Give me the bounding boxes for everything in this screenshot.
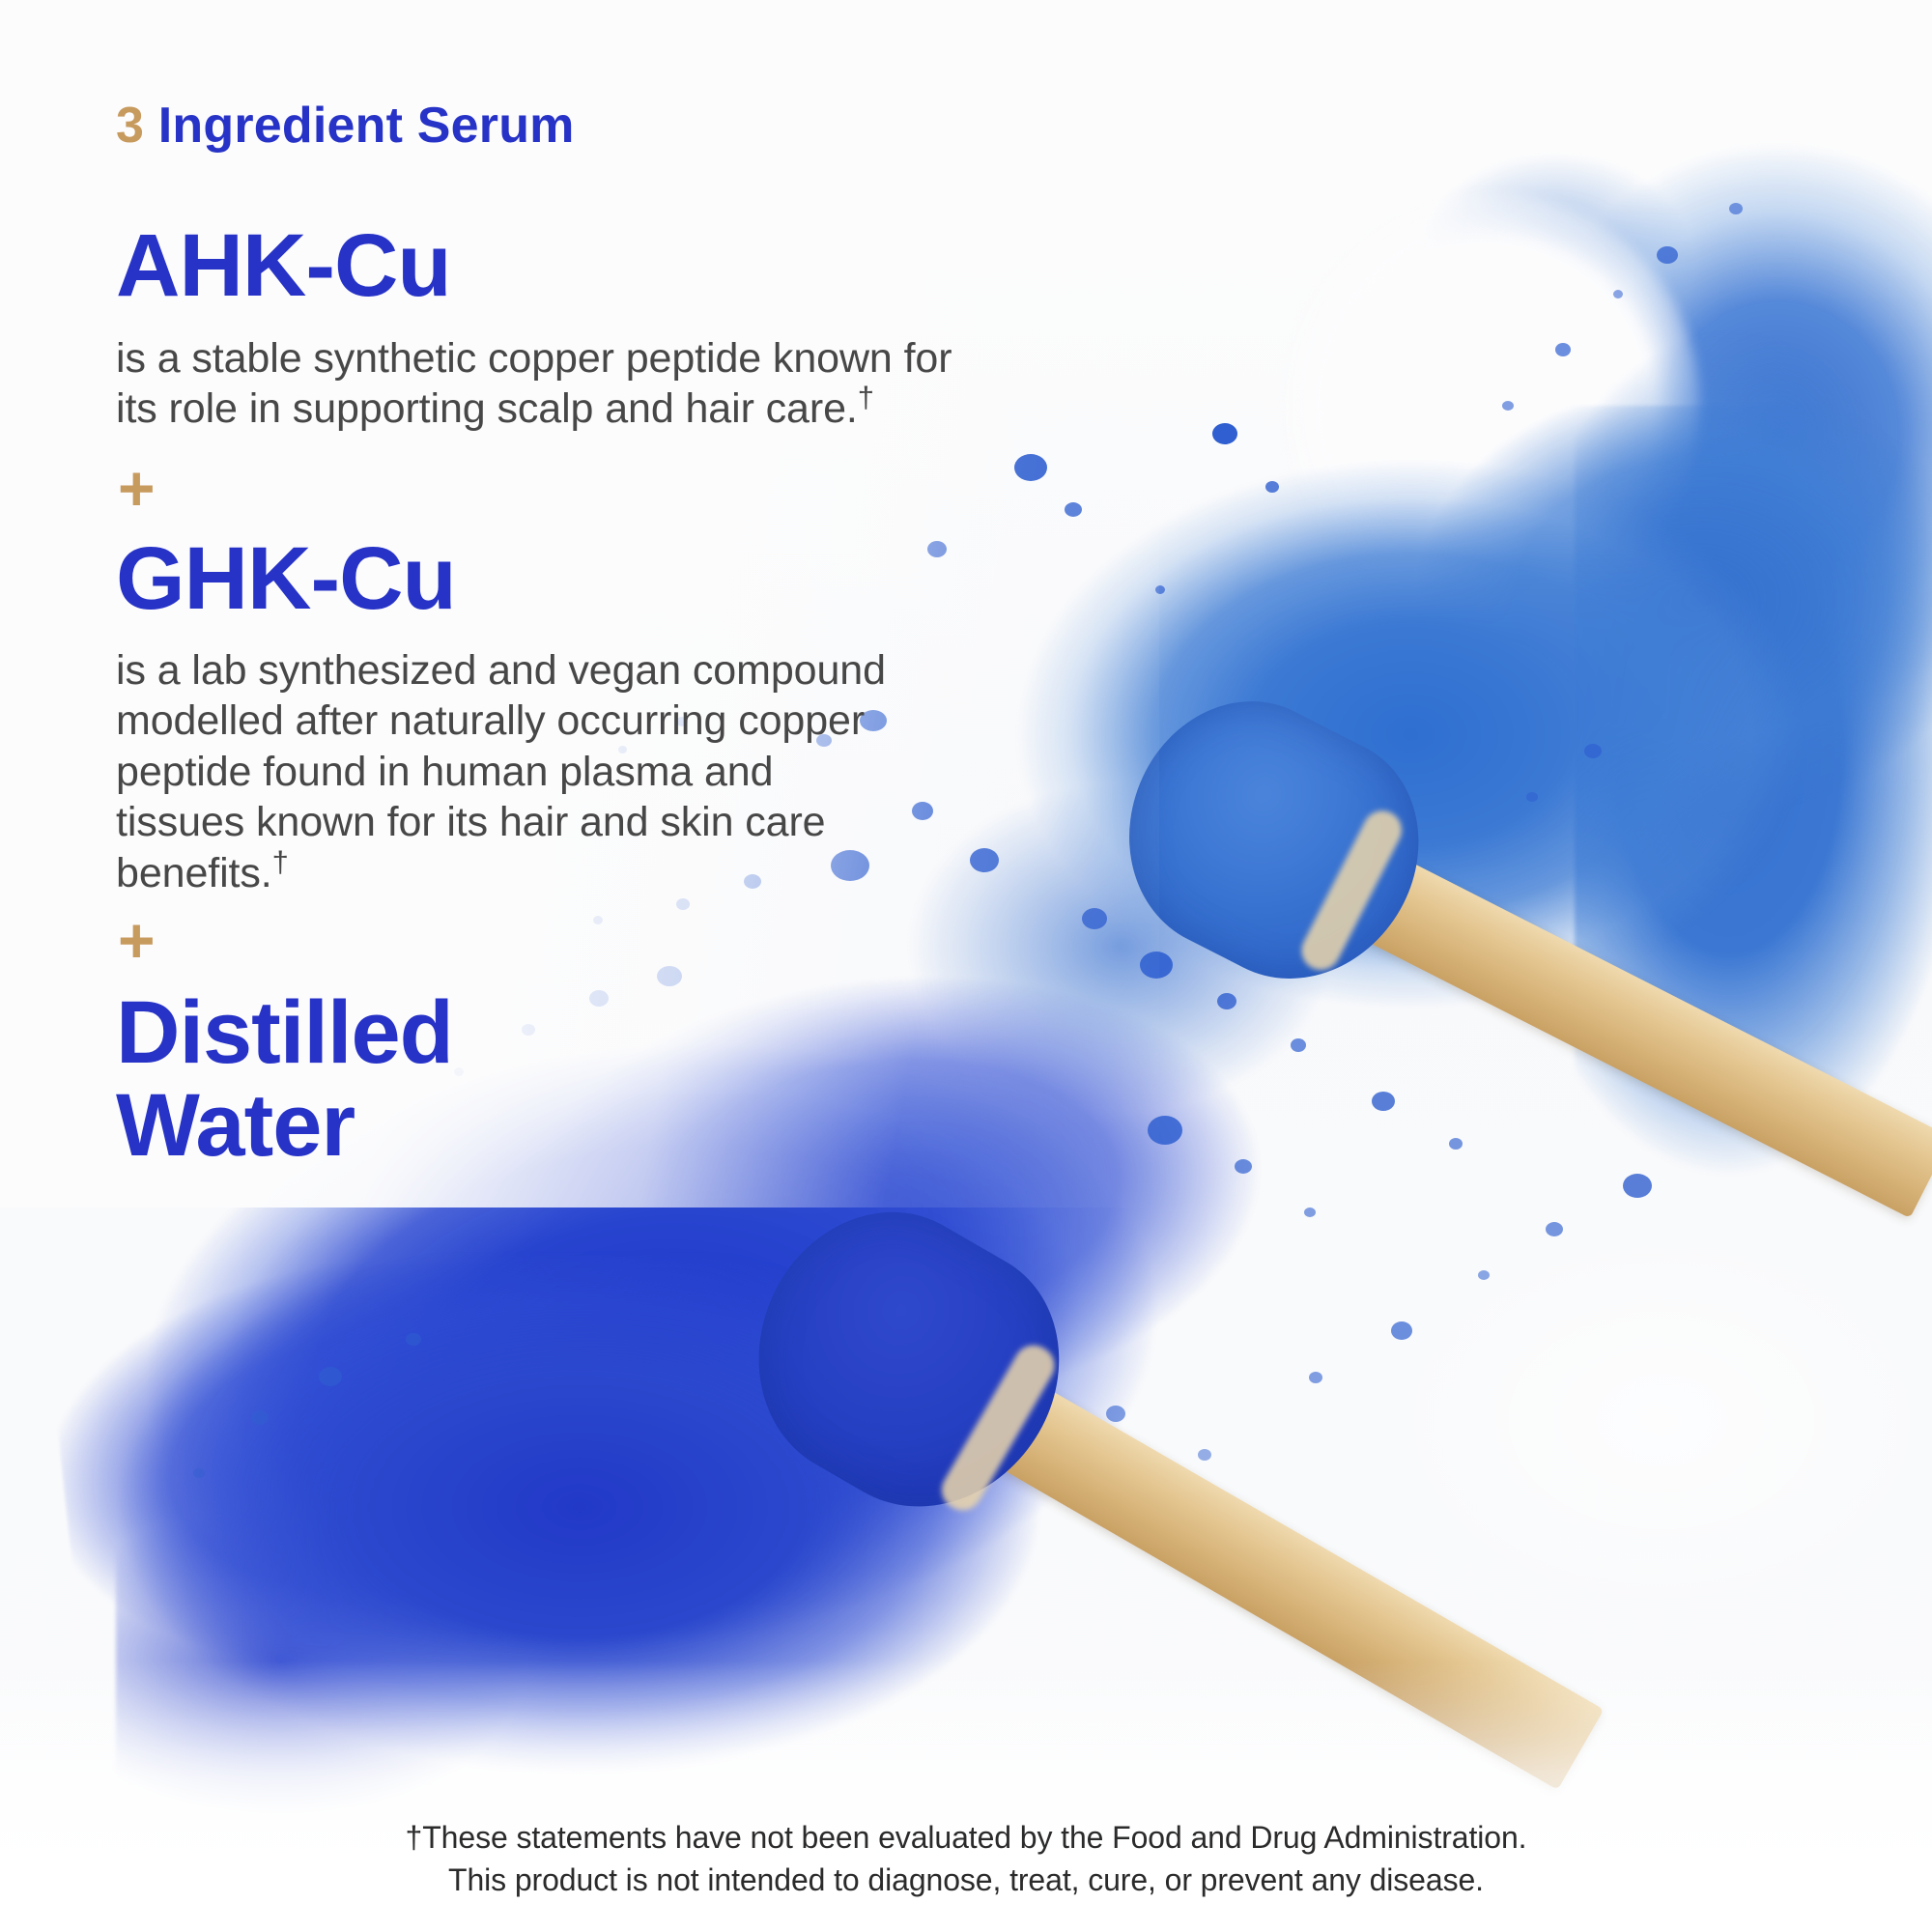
eyebrow-label: Ingredient Serum xyxy=(144,98,574,154)
ingredient-title-ahk-cu: AHK-Cu xyxy=(116,220,451,313)
ingredient-title-distilled-water: Distilled Water xyxy=(116,987,453,1172)
footnote-marker-ahk-cu: † xyxy=(858,381,874,414)
ingredient-title-ghk-cu: GHK-Cu xyxy=(116,533,456,626)
ingredient-description-ghk-cu: is a lab synthesized and vegan compound … xyxy=(116,645,886,898)
eyebrow-heading: 3 Ingredient Serum xyxy=(116,97,575,155)
ingredient-description-ahk-cu-text: is a stable synthetic copper peptide kno… xyxy=(116,335,952,432)
footnote-marker-ghk-cu: † xyxy=(272,844,289,878)
eyebrow-number: 3 xyxy=(116,98,144,154)
plus-separator-2: + xyxy=(118,908,156,972)
plus-separator-1: + xyxy=(118,456,156,520)
ingredient-description-ahk-cu: is a stable synthetic copper peptide kno… xyxy=(116,333,952,435)
ingredient-description-ghk-cu-text: is a lab synthesized and vegan compound … xyxy=(116,647,886,896)
product-ingredient-infographic: 3 Ingredient Serum AHK-Cu is a stable sy… xyxy=(0,0,1932,1932)
fda-disclaimer: †These statements have not been evaluate… xyxy=(0,1816,1932,1901)
